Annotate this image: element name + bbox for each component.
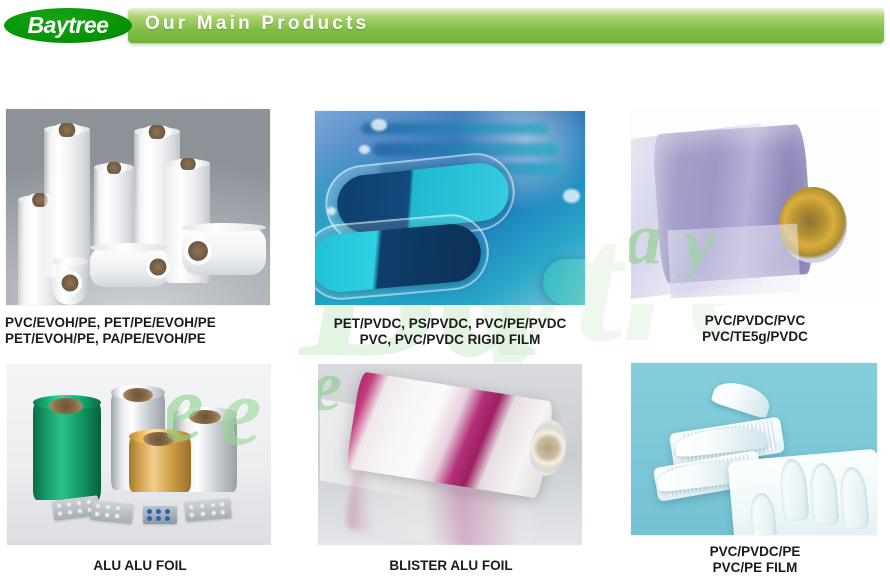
product-caption-5: BLISTER ALU FOIL bbox=[317, 558, 585, 574]
product-caption-3: PVC/PVDC/PVC PVC/TE5g/PVDC bbox=[628, 313, 882, 345]
page-title: Our Main Products bbox=[145, 13, 369, 35]
product-caption-5-line1: BLISTER ALU FOIL bbox=[389, 558, 512, 573]
product-caption-1-line1: PVC/EVOH/PE, PET/PE/EVOH/PE bbox=[5, 315, 216, 330]
product-image-6[interactable] bbox=[630, 362, 878, 536]
svg-text:e: e bbox=[317, 363, 342, 420]
product-caption-2-line2: PVC, PVC/PVDC RIGID FILM bbox=[314, 332, 586, 348]
product-caption-2-line1: PET/PVDC, PS/PVDC, PVC/PE/PVDC bbox=[334, 316, 567, 331]
brand-logo-label: Baytree bbox=[4, 8, 132, 43]
product-caption-4: ALU ALU FOIL bbox=[6, 558, 274, 574]
page-header: Our Main Products Baytree bbox=[0, 0, 890, 50]
product-card-2[interactable]: PET/PVDC, PS/PVDC, PVC/PE/PVDC PVC, PVC/… bbox=[314, 110, 586, 348]
product-image-3[interactable]: a y bbox=[628, 108, 880, 304]
svg-text:e: e bbox=[219, 366, 262, 462]
product-caption-1-line2: PET/EVOH/PE, PA/PE/EVOH/PE bbox=[5, 331, 273, 347]
product-caption-1: PVC/EVOH/PE, PET/PE/EVOH/PE PET/EVOH/PE,… bbox=[5, 315, 273, 347]
product-image-4[interactable]: e e bbox=[6, 363, 272, 546]
svg-text:y: y bbox=[676, 206, 715, 277]
product-caption-6: PVC/PVDC/PE PVC/PE FILM bbox=[630, 544, 880, 576]
product-caption-4-line1: ALU ALU FOIL bbox=[93, 558, 186, 573]
svg-text:e: e bbox=[167, 366, 204, 461]
product-card-6[interactable]: PVC/PVDC/PE PVC/PE FILM bbox=[630, 362, 880, 576]
product-image-5[interactable]: e bbox=[317, 363, 583, 546]
product-caption-6-line1: PVC/PVDC/PE bbox=[710, 544, 801, 559]
product-caption-6-line2: PVC/PE FILM bbox=[630, 560, 880, 576]
product-card-4[interactable]: e e ALU ALU FOIL bbox=[6, 363, 274, 574]
product-card-3[interactable]: a y PVC/PVDC/PVC PVC/TE5g/PVDC bbox=[628, 108, 882, 345]
product-image-1[interactable] bbox=[5, 108, 271, 306]
brand-logo[interactable]: Baytree bbox=[4, 8, 132, 43]
product-caption-2: PET/PVDC, PS/PVDC, PVC/PE/PVDC PVC, PVC/… bbox=[314, 316, 586, 348]
product-card-1[interactable]: PVC/EVOH/PE, PET/PE/EVOH/PE PET/EVOH/PE,… bbox=[5, 108, 273, 347]
product-caption-3-line2: PVC/TE5g/PVDC bbox=[628, 329, 882, 345]
product-caption-3-line1: PVC/PVDC/PVC bbox=[705, 313, 806, 328]
product-image-2[interactable] bbox=[314, 110, 586, 306]
product-card-5[interactable]: e BLISTER ALU FOIL bbox=[317, 363, 585, 574]
svg-text:a: a bbox=[629, 205, 662, 277]
